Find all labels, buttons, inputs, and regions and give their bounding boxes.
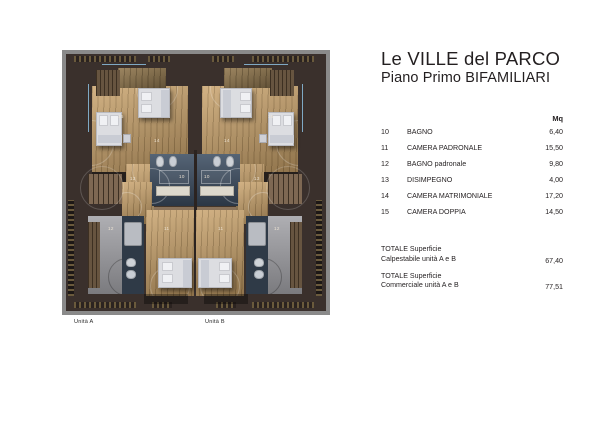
stair-arc-a xyxy=(80,166,124,210)
totals-label-line1: TOTALE Superficie xyxy=(381,245,441,253)
totals-row: TOTALE SuperficieCalpestabile unità A e … xyxy=(381,245,563,265)
bath-a-cabinet xyxy=(88,222,100,288)
toilet-a xyxy=(156,156,164,167)
bed-b-11 xyxy=(198,258,232,288)
unit-b-label: Unità B xyxy=(205,319,225,325)
wall-hatch-top-right xyxy=(252,56,314,62)
totals-value: 77,51 xyxy=(529,283,563,291)
nightstand-b-1 xyxy=(259,134,267,143)
floorplan-sheet: 15 14 13 10 12 11 15 14 13 10 12 11 Unit… xyxy=(0,0,600,424)
bed-a-11 xyxy=(158,258,192,288)
table-row: 13 DISIMPEGNO 4,00 xyxy=(381,176,563,192)
row-name: BAGNO xyxy=(407,128,529,136)
tub-a xyxy=(124,222,142,246)
room-number-a-14: 14 xyxy=(154,138,160,143)
vanity-b xyxy=(200,186,234,196)
unit-a-label: Unità A xyxy=(74,319,93,325)
row-number: 11 xyxy=(381,144,407,152)
totals-label: TOTALE SuperficieCalpestabile unità A e … xyxy=(381,245,529,265)
bidet-a xyxy=(169,156,177,167)
wall-hatch-right xyxy=(316,200,322,296)
row-area: 6,40 xyxy=(529,128,563,136)
room-schedule-table: Mq 10 BAGNO 6,40 11 CAMERA PADRONALE 15,… xyxy=(381,114,563,224)
room-number-a-11: 11 xyxy=(164,226,169,231)
vanity-a xyxy=(156,186,190,196)
nightstand-a-1 xyxy=(123,134,131,143)
table-header-mq: Mq xyxy=(381,114,563,128)
room-number-b-10: 10 xyxy=(204,174,210,179)
page-subtitle: Piano Primo BIFAMILIARI xyxy=(381,70,550,86)
window-b-right xyxy=(302,84,303,132)
totals-block: TOTALE SuperficieCalpestabile unità A e … xyxy=(381,245,563,298)
room-number-b-13: 13 xyxy=(254,176,260,181)
bidet-b-master xyxy=(254,270,264,279)
room-number-b-14: 14 xyxy=(224,138,230,143)
totals-row: TOTALE SuperficieCommerciale unità A e B… xyxy=(381,272,563,292)
row-area: 17,20 xyxy=(529,192,563,200)
totals-label-line2: Commerciale unità A e B xyxy=(381,281,459,289)
room-a-entry-shade xyxy=(118,68,166,88)
totals-label: TOTALE SuperficieCommerciale unità A e B xyxy=(381,272,529,292)
wall-hatch-top-midleft xyxy=(148,56,170,62)
row-name: CAMERA DOPPIA xyxy=(407,208,529,216)
toilet-b xyxy=(226,156,234,167)
row-number: 12 xyxy=(381,160,407,168)
bed-a-14 xyxy=(138,88,170,118)
page-title: Le VILLE del PARCO xyxy=(381,48,560,70)
table-row: 12 BAGNO padronale 9,80 xyxy=(381,160,563,176)
room-number-b-11: 11 xyxy=(218,226,223,231)
recess-a-bottom xyxy=(144,294,188,304)
table-row: 11 CAMERA PADRONALE 15,50 xyxy=(381,144,563,160)
room-number-a-10: 10 xyxy=(179,174,185,179)
row-name: DISIMPEGNO xyxy=(407,176,529,184)
bath-b-cabinet xyxy=(290,222,302,288)
wall-hatch-top-midright xyxy=(212,56,234,62)
bidet-b xyxy=(213,156,221,167)
room-number-a-15: 15 xyxy=(118,114,124,119)
wardrobe-b-top xyxy=(270,70,294,96)
bed-b-14 xyxy=(220,88,252,118)
wall-hatch-left xyxy=(68,200,74,296)
row-number: 14 xyxy=(381,192,407,200)
totals-label-line2: Calpestabile unità A e B xyxy=(381,255,456,263)
recess-b-bottom xyxy=(204,294,248,304)
row-area: 4,00 xyxy=(529,176,563,184)
toilet-b-master xyxy=(254,258,264,267)
window-a-left xyxy=(88,84,89,132)
wall-hatch-top-left xyxy=(74,56,136,62)
plan-canvas: 15 14 13 10 12 11 15 14 13 10 12 11 xyxy=(66,54,326,311)
row-number: 10 xyxy=(381,128,407,136)
room-number-b-15: 15 xyxy=(268,114,274,119)
totals-value: 67,40 xyxy=(529,257,563,265)
row-name: BAGNO padronale xyxy=(407,160,529,168)
room-number-a-13: 13 xyxy=(130,176,136,181)
stair-arc-b xyxy=(266,166,310,210)
room-number-a-12: 12 xyxy=(108,226,114,231)
totals-label-line1: TOTALE Superficie xyxy=(381,272,441,280)
tub-b xyxy=(248,222,266,246)
table-row: 14 CAMERA MATRIMONIALE 17,20 xyxy=(381,192,563,208)
row-area: 15,50 xyxy=(529,144,563,152)
wall-hatch-bottom-right xyxy=(252,302,314,308)
window-b-top xyxy=(244,64,288,65)
window-a-top xyxy=(102,64,146,65)
bidet-a-master xyxy=(126,270,136,279)
row-number: 15 xyxy=(381,208,407,216)
room-b-entry-shade xyxy=(224,68,272,88)
table-row: 10 BAGNO 6,40 xyxy=(381,128,563,144)
row-area: 14,50 xyxy=(529,208,563,216)
row-number: 13 xyxy=(381,176,407,184)
room-number-b-12: 12 xyxy=(274,226,280,231)
row-name: CAMERA PADRONALE xyxy=(407,144,529,152)
floor-plan-image: 15 14 13 10 12 11 15 14 13 10 12 11 xyxy=(62,50,330,315)
row-name: CAMERA MATRIMONIALE xyxy=(407,192,529,200)
wall-hatch-bottom-left xyxy=(74,302,136,308)
table-row: 15 CAMERA DOPPIA 14,50 xyxy=(381,208,563,224)
toilet-a-master xyxy=(126,258,136,267)
wardrobe-a-top xyxy=(96,70,120,96)
row-area: 9,80 xyxy=(529,160,563,168)
